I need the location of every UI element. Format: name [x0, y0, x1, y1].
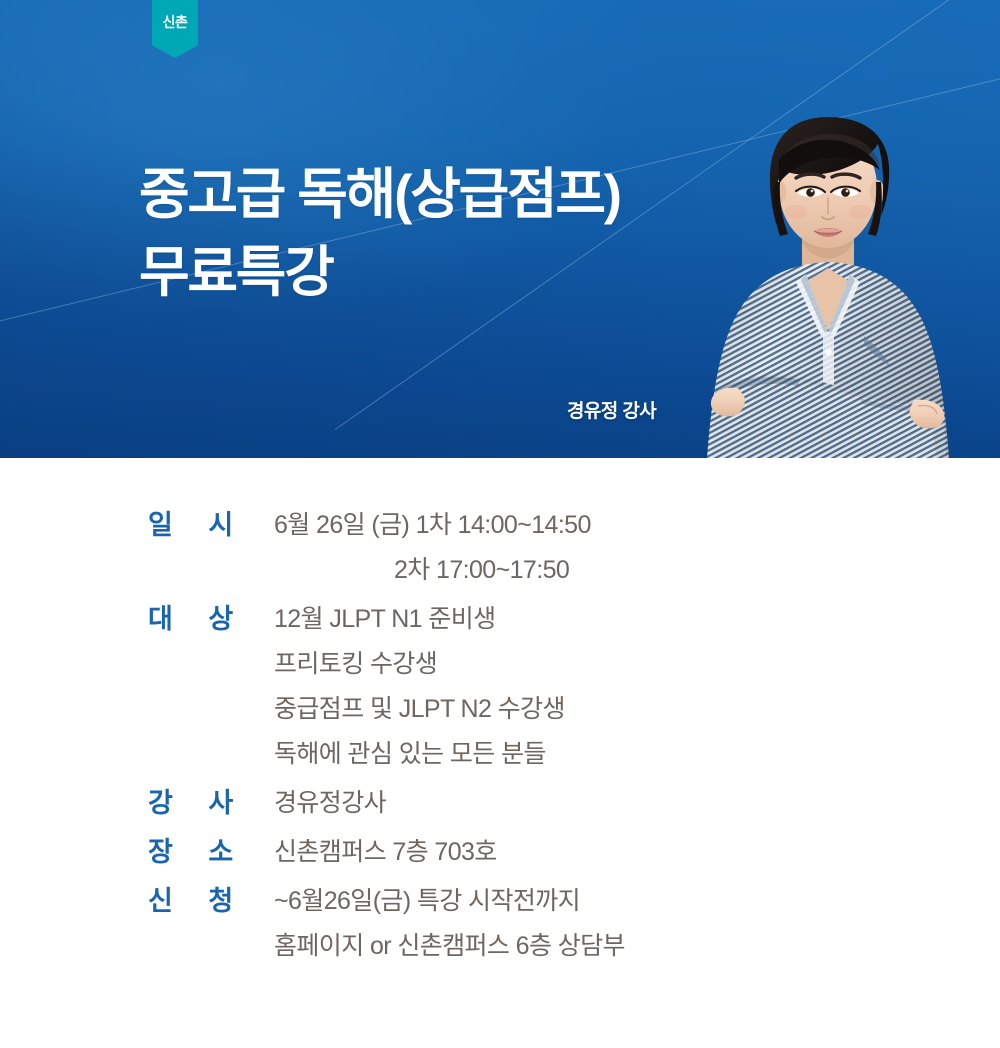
detail-row-instructor: 강 사 경유정강사 — [148, 781, 625, 826]
detail-label-audience: 대 상 — [148, 597, 248, 642]
detail-row-audience: 대 상 12월 JLPT N1 준비생 프리토킹 수강생 중급점프 및 JLPT… — [148, 597, 625, 777]
hero-title: 중고급 독해(상급점프) 무료특강 — [139, 155, 620, 311]
detail-values-registration: ~6월26일(금) 특강 시작전까지 홈페이지 or 신촌캠퍼스 6층 상담부 — [248, 879, 625, 969]
campus-ribbon-label: 신촌 — [163, 15, 188, 29]
detail-label-location: 장 소 — [148, 830, 248, 875]
detail-row-registration: 신 청 ~6월26일(금) 특강 시작전까지 홈페이지 or 신촌캠퍼스 6층 … — [148, 879, 625, 969]
detail-label-datetime: 일 시 — [148, 503, 248, 548]
detail-value: 2차 17:00~17:50 — [274, 548, 591, 593]
hero-banner: 신촌 중고급 독해(상급점프) 무료특강 경유정 강사 — [0, 0, 1000, 458]
detail-values-location: 신촌캠퍼스 7층 703호 — [248, 830, 497, 875]
detail-label-instructor: 강 사 — [148, 781, 248, 826]
detail-value: 중급점프 및 JLPT N2 수강생 — [274, 687, 565, 732]
detail-values-instructor: 경유정강사 — [248, 781, 386, 826]
instructor-photo — [678, 86, 978, 458]
hero-title-line-2: 무료특강 — [139, 233, 620, 311]
detail-value: 6월 26일 (금) 1차 14:00~14:50 — [274, 503, 591, 548]
details-section: 일 시 6월 26일 (금) 1차 14:00~14:50 2차 17:00~1… — [0, 458, 1000, 1048]
detail-value: 홈페이지 or 신촌캠퍼스 6층 상담부 — [274, 924, 625, 969]
campus-ribbon-badge: 신촌 — [152, 0, 198, 58]
detail-label-registration: 신 청 — [148, 879, 248, 924]
detail-row-location: 장 소 신촌캠퍼스 7층 703호 — [148, 830, 625, 875]
promo-poster: 신촌 중고급 독해(상급점프) 무료특강 경유정 강사 — [0, 0, 1000, 1048]
detail-value: 12월 JLPT N1 준비생 — [274, 597, 565, 642]
detail-value: 프리토킹 수강생 — [274, 642, 565, 687]
detail-value: 신촌캠퍼스 7층 703호 — [274, 830, 497, 875]
details-rows: 일 시 6월 26일 (금) 1차 14:00~14:50 2차 17:00~1… — [148, 503, 625, 973]
hero-title-line-1: 중고급 독해(상급점프) — [139, 155, 620, 233]
detail-row-datetime: 일 시 6월 26일 (금) 1차 14:00~14:50 2차 17:00~1… — [148, 503, 625, 593]
instructor-caption: 경유정 강사 — [567, 396, 656, 423]
detail-values-audience: 12월 JLPT N1 준비생 프리토킹 수강생 중급점프 및 JLPT N2 … — [248, 597, 565, 777]
detail-value: 독해에 관심 있는 모든 분들 — [274, 732, 565, 777]
detail-value: 경유정강사 — [274, 781, 386, 826]
detail-value: ~6월26일(금) 특강 시작전까지 — [274, 879, 625, 924]
detail-values-datetime: 6월 26일 (금) 1차 14:00~14:50 2차 17:00~17:50 — [248, 503, 591, 593]
